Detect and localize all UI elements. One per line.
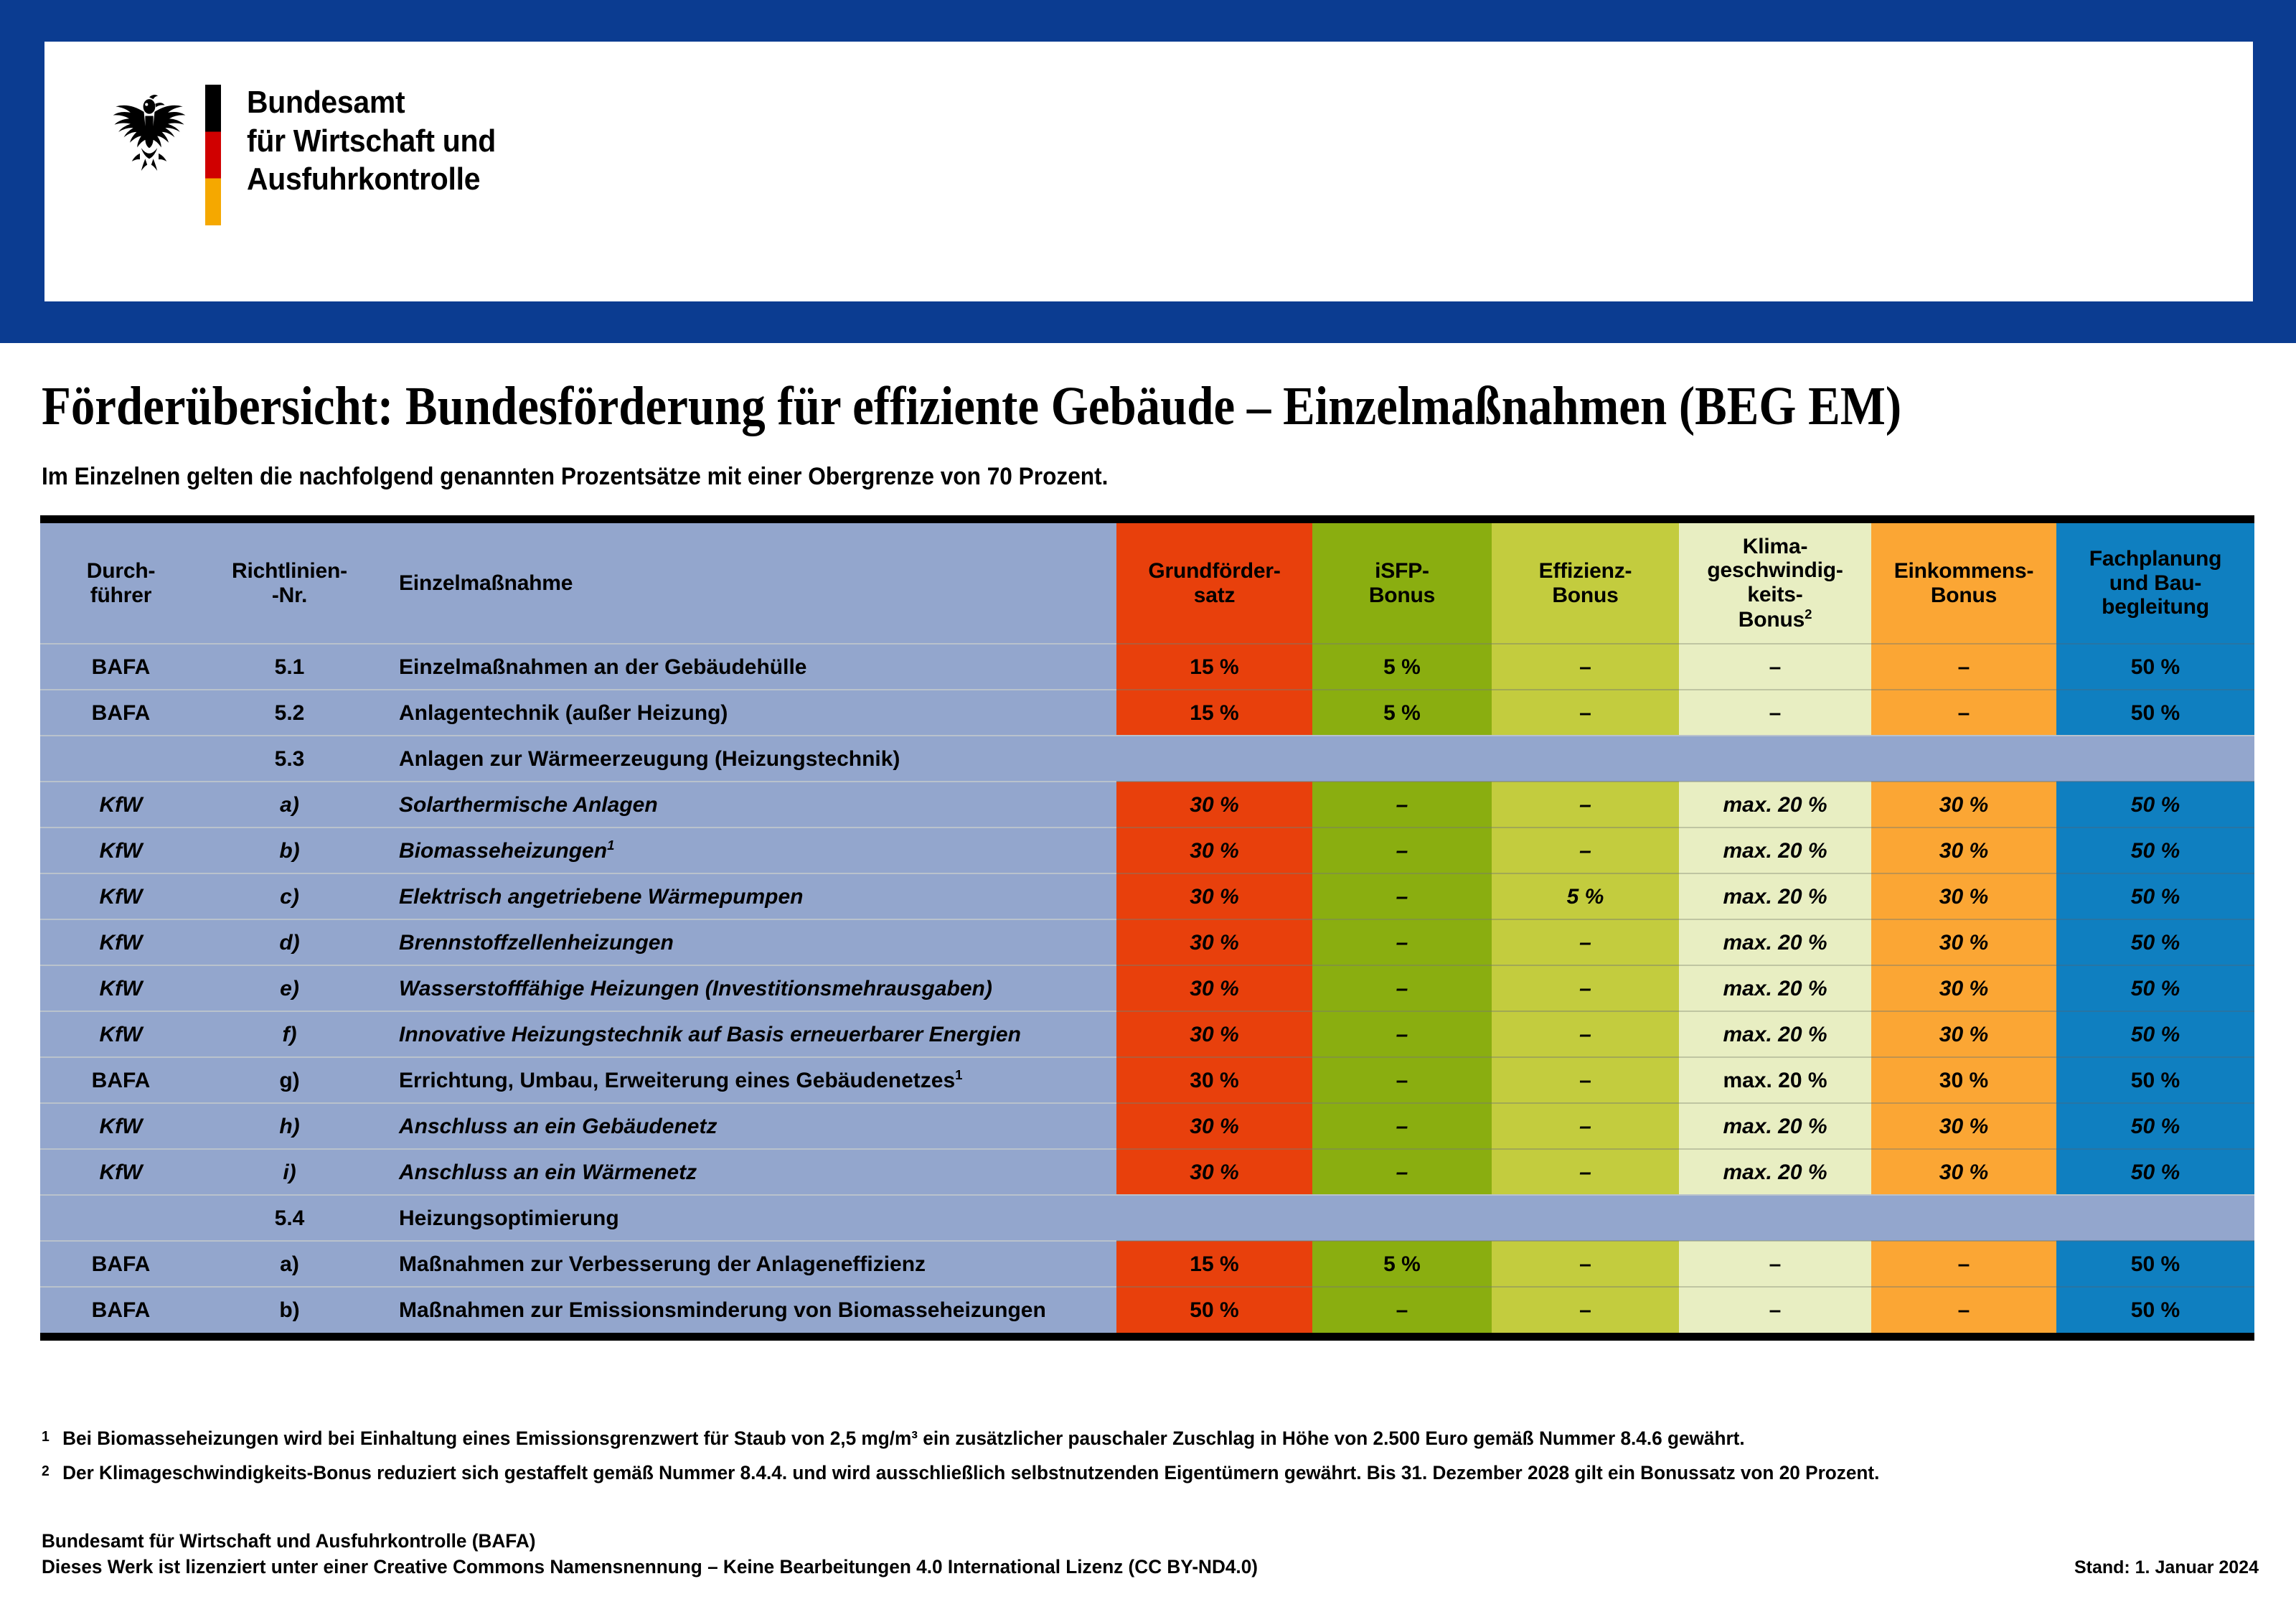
cell-fachplanung: 50 %	[2056, 1149, 2254, 1195]
cell-grundfoerdersatz: 30 %	[1116, 782, 1312, 828]
cell-massnahme: Heizungsoptimierung	[377, 1195, 1116, 1241]
cell-effizienz-bonus: –	[1492, 1057, 1679, 1103]
cell-isfp-bonus: –	[1312, 1287, 1492, 1333]
table-row: KfWd)Brennstoffzellenheizungen30 %––max.…	[40, 919, 2254, 965]
footnotes: 1 Bei Biomasseheizungen wird bei Einhalt…	[42, 1427, 2259, 1496]
cell-isfp-bonus: –	[1312, 782, 1492, 828]
cell-grundfoerdersatz: 30 %	[1116, 965, 1312, 1011]
table-row: BAFAb)Maßnahmen zur Emissionsminderung v…	[40, 1287, 2254, 1333]
cell-einkommens-bonus: –	[1871, 644, 2056, 690]
federal-eagle-icon	[109, 83, 189, 178]
cell-grundfoerdersatz: 30 %	[1116, 1057, 1312, 1103]
cell-isfp-bonus: –	[1312, 1011, 1492, 1057]
cell-durchfuehrer: BAFA	[40, 690, 202, 736]
cell-grundfoerdersatz: 30 %	[1116, 919, 1312, 965]
cell-effizienz-bonus: –	[1492, 828, 1679, 873]
cell-grundfoerdersatz: 15 %	[1116, 644, 1312, 690]
cell-klimageschwindigkeits-bonus: –	[1679, 1287, 1871, 1333]
cell-einkommens-bonus: 30 %	[1871, 782, 2056, 828]
header-einkommens-bonus: Einkommens-Bonus	[1871, 523, 2056, 644]
cell-isfp-bonus: 5 %	[1312, 690, 1492, 736]
table-section-row: 5.4Heizungsoptimierung	[40, 1195, 2254, 1241]
cell-durchfuehrer	[40, 1195, 202, 1241]
cell-nr: a)	[202, 1241, 377, 1287]
cell-klimageschwindigkeits-bonus: max. 20 %	[1679, 1011, 1871, 1057]
cell-effizienz-bonus: –	[1492, 690, 1679, 736]
cell-durchfuehrer: BAFA	[40, 644, 202, 690]
cell-durchfuehrer: KfW	[40, 1149, 202, 1195]
cell-isfp-bonus: –	[1312, 1103, 1492, 1149]
cell-durchfuehrer: KfW	[40, 1011, 202, 1057]
cell-einkommens-bonus: 30 %	[1871, 1103, 2056, 1149]
cell-massnahme: Anschluss an ein Wärmenetz	[377, 1149, 1116, 1195]
cell-massnahme: Maßnahmen zur Verbesserung der Anlagenef…	[377, 1241, 1116, 1287]
cell-fachplanung: 50 %	[2056, 644, 2254, 690]
logo-text: Bundesamt für Wirtschaft und Ausfuhrkont…	[247, 83, 496, 199]
cell-massnahme: Anlagentechnik (außer Heizung)	[377, 690, 1116, 736]
cell-klimageschwindigkeits-bonus: max. 20 %	[1679, 1057, 1871, 1103]
cell-nr: 5.1	[202, 644, 377, 690]
footer-license: Dieses Werk ist lizenziert unter einer C…	[42, 1555, 1258, 1580]
cell-nr: e)	[202, 965, 377, 1011]
cell-durchfuehrer: KfW	[40, 873, 202, 919]
table-row: KfWc)Elektrisch angetriebene Wärmepumpen…	[40, 873, 2254, 919]
cell-massnahme: Biomasseheizungen1	[377, 828, 1116, 873]
cell-durchfuehrer: BAFA	[40, 1241, 202, 1287]
cell-effizienz-bonus: –	[1492, 1011, 1679, 1057]
bafa-logo: Bundesamt für Wirtschaft und Ausfuhrkont…	[109, 83, 514, 225]
cell-einkommens-bonus: –	[1871, 1287, 2056, 1333]
cell-klimageschwindigkeits-bonus: max. 20 %	[1679, 828, 1871, 873]
cell-nr: h)	[202, 1103, 377, 1149]
cell-nr: i)	[202, 1149, 377, 1195]
cell-durchfuehrer: BAFA	[40, 1057, 202, 1103]
table-row: KfWh)Anschluss an ein Gebäudenetz30 %––m…	[40, 1103, 2254, 1149]
cell-isfp-bonus: 5 %	[1312, 1241, 1492, 1287]
header-grundfoerdersatz: Grundförder-satz	[1116, 523, 1312, 644]
cell-isfp-bonus: –	[1312, 1149, 1492, 1195]
cell-nr: 5.4	[202, 1195, 377, 1241]
cell-effizienz-bonus: –	[1492, 1241, 1679, 1287]
cell-isfp-bonus: –	[1312, 1057, 1492, 1103]
cell-grundfoerdersatz: 30 %	[1116, 828, 1312, 873]
funding-table-wrapper: Durch-führerRichtlinien--Nr.Einzelmaßnah…	[40, 515, 2254, 1341]
footnote-2: 2 Der Klimageschwindigkeits-Bonus reduzi…	[42, 1461, 2192, 1486]
cell-einkommens-bonus: 30 %	[1871, 1149, 2056, 1195]
footer-stand-date: Stand: 1. Januar 2024	[2074, 1557, 2259, 1580]
cell-klimageschwindigkeits-bonus: –	[1679, 1241, 1871, 1287]
cell-fachplanung: 50 %	[2056, 1241, 2254, 1287]
cell-massnahme: Elektrisch angetriebene Wärmepumpen	[377, 873, 1116, 919]
cell-isfp-bonus: –	[1312, 965, 1492, 1011]
logo-line-2: für Wirtschaft und	[247, 122, 496, 161]
cell-effizienz-bonus: –	[1492, 1103, 1679, 1149]
header-durchfuehrer: Durch-führer	[40, 523, 202, 644]
cell-grundfoerdersatz: 30 %	[1116, 1103, 1312, 1149]
cell-durchfuehrer	[40, 736, 202, 782]
footnote-1: 1 Bei Biomasseheizungen wird bei Einhalt…	[42, 1427, 2192, 1451]
cell-grundfoerdersatz: 30 %	[1116, 873, 1312, 919]
cell-effizienz-bonus: –	[1492, 965, 1679, 1011]
cell-fachplanung: 50 %	[2056, 1057, 2254, 1103]
cell-klimageschwindigkeits-bonus: max. 20 %	[1679, 919, 1871, 965]
cell-durchfuehrer: KfW	[40, 828, 202, 873]
cell-fachplanung: 50 %	[2056, 1011, 2254, 1057]
cell-einkommens-bonus: –	[1871, 690, 2056, 736]
cell-massnahme: Brennstoffzellenheizungen	[377, 919, 1116, 965]
cell-grundfoerdersatz: 30 %	[1116, 1149, 1312, 1195]
cell-massnahme: Anschluss an ein Gebäudenetz	[377, 1103, 1116, 1149]
funding-table: Durch-führerRichtlinien--Nr.Einzelmaßnah…	[40, 523, 2254, 1333]
footnote-1-mark: 1	[42, 1427, 62, 1446]
cell-section-spacer	[1116, 1195, 2254, 1241]
cell-einkommens-bonus: –	[1871, 1241, 2056, 1287]
cell-massnahme: Maßnahmen zur Emissionsminderung von Bio…	[377, 1287, 1116, 1333]
cell-fachplanung: 50 %	[2056, 1103, 2254, 1149]
cell-massnahme: Errichtung, Umbau, Erweiterung eines Geb…	[377, 1057, 1116, 1103]
cell-grundfoerdersatz: 15 %	[1116, 1241, 1312, 1287]
cell-klimageschwindigkeits-bonus: –	[1679, 690, 1871, 736]
cell-nr: g)	[202, 1057, 377, 1103]
logo-line-3: Ausfuhrkontrolle	[247, 160, 496, 199]
cell-einkommens-bonus: 30 %	[1871, 1011, 2056, 1057]
cell-fachplanung: 50 %	[2056, 873, 2254, 919]
cell-durchfuehrer: KfW	[40, 1103, 202, 1149]
cell-grundfoerdersatz: 30 %	[1116, 1011, 1312, 1057]
cell-effizienz-bonus: –	[1492, 919, 1679, 965]
table-row: KfWb)Biomasseheizungen130 %––max. 20 %30…	[40, 828, 2254, 873]
table-row: BAFAa)Maßnahmen zur Verbesserung der Anl…	[40, 1241, 2254, 1287]
header-einzelmassnahme: Einzelmaßnahme	[377, 523, 1116, 644]
cell-effizienz-bonus: 5 %	[1492, 873, 1679, 919]
cell-durchfuehrer: KfW	[40, 965, 202, 1011]
cell-einkommens-bonus: 30 %	[1871, 965, 2056, 1011]
table-row: KfWi)Anschluss an ein Wärmenetz30 %––max…	[40, 1149, 2254, 1195]
cell-nr: b)	[202, 828, 377, 873]
logo-white-box: Bundesamt für Wirtschaft und Ausfuhrkont…	[44, 42, 2253, 301]
cell-nr: f)	[202, 1011, 377, 1057]
page-footer: Bundesamt für Wirtschaft und Ausfuhrkont…	[42, 1529, 2259, 1580]
cell-einkommens-bonus: 30 %	[1871, 873, 2056, 919]
header-effizienz-bonus: Effizienz-Bonus	[1492, 523, 1679, 644]
cell-klimageschwindigkeits-bonus: max. 20 %	[1679, 873, 1871, 919]
header-fachplanung: Fachplanungund Bau-begleitung	[2056, 523, 2254, 644]
top-blue-banner: Bundesamt für Wirtschaft und Ausfuhrkont…	[0, 0, 2296, 343]
cell-fachplanung: 50 %	[2056, 919, 2254, 965]
cell-grundfoerdersatz: 15 %	[1116, 690, 1312, 736]
cell-klimageschwindigkeits-bonus: max. 20 %	[1679, 1103, 1871, 1149]
page-subtitle: Im Einzelnen gelten die nachfolgend gena…	[42, 463, 1108, 491]
cell-klimageschwindigkeits-bonus: max. 20 %	[1679, 965, 1871, 1011]
table-section-row: 5.3Anlagen zur Wärmeerzeugung (Heizungst…	[40, 736, 2254, 782]
cell-nr: a)	[202, 782, 377, 828]
cell-fachplanung: 50 %	[2056, 690, 2254, 736]
logo-line-1: Bundesamt	[247, 83, 496, 122]
table-row: KfWe)Wasserstofffähige Heizungen (Invest…	[40, 965, 2254, 1011]
cell-isfp-bonus: –	[1312, 919, 1492, 965]
table-row: KfWf)Innovative Heizungstechnik auf Basi…	[40, 1011, 2254, 1057]
cell-einkommens-bonus: 30 %	[1871, 919, 2056, 965]
cell-isfp-bonus: –	[1312, 873, 1492, 919]
footer-org: Bundesamt für Wirtschaft und Ausfuhrkont…	[42, 1529, 1258, 1555]
cell-fachplanung: 50 %	[2056, 1287, 2254, 1333]
cell-isfp-bonus: 5 %	[1312, 644, 1492, 690]
cell-fachplanung: 50 %	[2056, 782, 2254, 828]
cell-klimageschwindigkeits-bonus: max. 20 %	[1679, 1149, 1871, 1195]
cell-massnahme: Einzelmaßnahmen an der Gebäudehülle	[377, 644, 1116, 690]
cell-massnahme: Wasserstofffähige Heizungen (Investition…	[377, 965, 1116, 1011]
table-body: Durch-führerRichtlinien--Nr.Einzelmaßnah…	[40, 523, 2254, 1333]
cell-nr: b)	[202, 1287, 377, 1333]
cell-isfp-bonus: –	[1312, 828, 1492, 873]
cell-grundfoerdersatz: 50 %	[1116, 1287, 1312, 1333]
cell-massnahme: Solarthermische Anlagen	[377, 782, 1116, 828]
header-klimageschwindigkeits-bonus: Klima-geschwindig-keits-Bonus2	[1679, 523, 1871, 644]
cell-durchfuehrer: KfW	[40, 782, 202, 828]
cell-klimageschwindigkeits-bonus: max. 20 %	[1679, 782, 1871, 828]
cell-fachplanung: 50 %	[2056, 828, 2254, 873]
footnote-1-text: Bei Biomasseheizungen wird bei Einhaltun…	[62, 1427, 1745, 1451]
cell-einkommens-bonus: 30 %	[1871, 828, 2056, 873]
cell-nr: 5.3	[202, 736, 377, 782]
table-row: KfWa)Solarthermische Anlagen30 %––max. 2…	[40, 782, 2254, 828]
table-row: BAFA5.1Einzelmaßnahmen an der Gebäudehül…	[40, 644, 2254, 690]
header-richtlinien-nr: Richtlinien--Nr.	[202, 523, 377, 644]
table-header-row: Durch-führerRichtlinien--Nr.Einzelmaßnah…	[40, 523, 2254, 644]
table-row: BAFA5.2Anlagentechnik (außer Heizung)15 …	[40, 690, 2254, 736]
header-isfp-bonus: iSFP-Bonus	[1312, 523, 1492, 644]
cell-effizienz-bonus: –	[1492, 1287, 1679, 1333]
footer-license-block: Bundesamt für Wirtschaft und Ausfuhrkont…	[42, 1529, 1258, 1580]
cell-nr: d)	[202, 919, 377, 965]
cell-klimageschwindigkeits-bonus: –	[1679, 644, 1871, 690]
cell-durchfuehrer: BAFA	[40, 1287, 202, 1333]
cell-section-spacer	[1116, 736, 2254, 782]
cell-effizienz-bonus: –	[1492, 1149, 1679, 1195]
cell-effizienz-bonus: –	[1492, 644, 1679, 690]
table-row: BAFAg)Errichtung, Umbau, Erweiterung ein…	[40, 1057, 2254, 1103]
cell-massnahme: Anlagen zur Wärmeerzeugung (Heizungstech…	[377, 736, 1116, 782]
cell-durchfuehrer: KfW	[40, 919, 202, 965]
footnote-2-text: Der Klimageschwindigkeits-Bonus reduzier…	[62, 1461, 1879, 1486]
cell-effizienz-bonus: –	[1492, 782, 1679, 828]
cell-massnahme: Innovative Heizungstechnik auf Basis ern…	[377, 1011, 1116, 1057]
cell-fachplanung: 50 %	[2056, 965, 2254, 1011]
cell-nr: 5.2	[202, 690, 377, 736]
cell-einkommens-bonus: 30 %	[1871, 1057, 2056, 1103]
cell-nr: c)	[202, 873, 377, 919]
german-flag-bar-icon	[205, 85, 221, 225]
page-title: Förderübersicht: Bundesförderung für eff…	[42, 379, 1901, 433]
footnote-2-mark: 2	[42, 1461, 62, 1481]
